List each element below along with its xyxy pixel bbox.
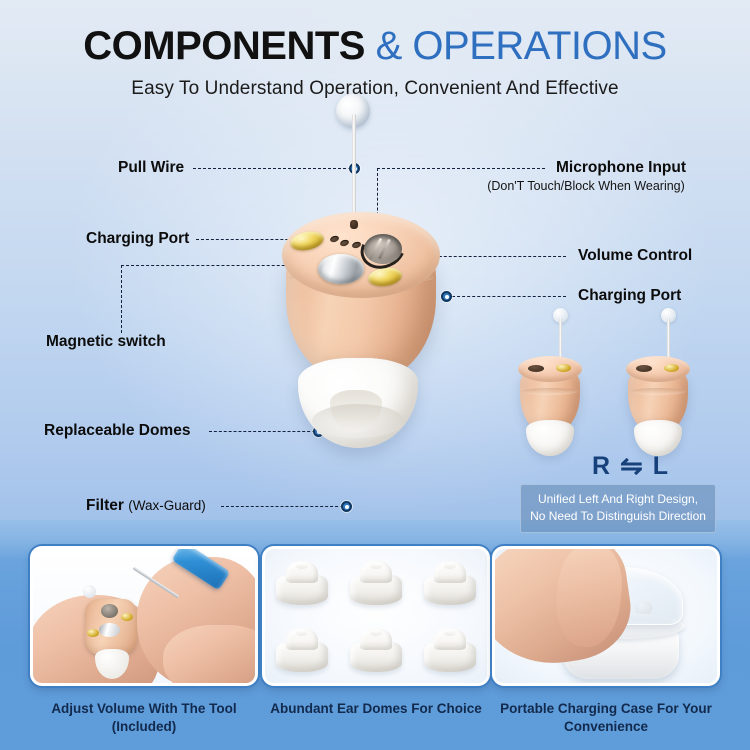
pull-wire-anchor (350, 220, 358, 229)
callout-label-volume-control: Volume Control (578, 247, 692, 265)
title-secondary: & OPERATIONS (376, 24, 667, 68)
callout-label-magnetic-switch: Magnetic switch (46, 333, 166, 351)
charging-contact-left (87, 629, 99, 637)
mini-device-top-face (626, 356, 690, 382)
leader-line-filter (221, 506, 343, 507)
volume-control-dial (101, 604, 118, 618)
ear-dome-item (274, 628, 330, 672)
callout-text-charging-port-right: Charging Port (578, 287, 681, 304)
hearing-aid-closeup (85, 599, 137, 655)
charging-contact-right (121, 613, 133, 621)
callout-label-charging-port-left: Charging Port (86, 230, 189, 248)
callout-label-microphone-input: Microphone Input (Don'T Touch/Block When… (556, 159, 686, 193)
title-primary: COMPONENTS (83, 24, 365, 68)
mini-dome (526, 420, 574, 456)
leader-line-magnetic-switch-v (121, 265, 122, 333)
mini-pull-wire-icon (559, 318, 562, 362)
leader-dot-filter (341, 501, 352, 512)
pull-wire-ball-icon (83, 585, 96, 598)
left-ear-letter: L (653, 452, 668, 481)
infographic-canvas: COMPONENTS & OPERATIONS Easy To Understa… (0, 0, 750, 750)
page-title: COMPONENTS & OPERATIONS (0, 0, 750, 66)
callout-text-microphone-input: Microphone Input (556, 159, 686, 176)
mini-hearing-aid-left (620, 340, 696, 458)
ear-dome-item (348, 561, 404, 605)
callout-label-pull-wire: Pull Wire (118, 159, 184, 177)
mini-hearing-aid-right (512, 340, 588, 458)
volume-control-dial (364, 234, 402, 264)
magnetic-switch-icon (318, 254, 364, 284)
right-ear-letter: R (592, 452, 610, 481)
feature-card-ear-domes[interactable] (262, 546, 490, 686)
header: COMPONENTS & OPERATIONS Easy To Understa… (0, 0, 750, 100)
ear-dome-item (274, 561, 330, 605)
magnetic-switch-icon (99, 623, 120, 637)
callout-label-replaceable-domes: Replaceable Domes (44, 422, 190, 440)
feature-caption-ear-domes: Abundant Ear Domes For Choice (262, 700, 490, 718)
callout-text-magnetic-switch: Magnetic switch (46, 333, 166, 350)
callout-text-charging-port-left: Charging Port (86, 230, 189, 247)
callout-note-microphone-input: (Don'T Touch/Block When Wearing) (486, 179, 686, 193)
page-subtitle: Easy To Understand Operation, Convenient… (0, 66, 750, 100)
unified-design-note-line1: Unified Left And Right Design, (525, 491, 711, 508)
dome-lip (312, 404, 404, 438)
ear-domes-grid (265, 549, 487, 683)
callout-note-filter: (Wax-Guard) (128, 498, 206, 513)
feature-card-adjust-volume[interactable] (30, 546, 258, 686)
callout-label-filter: Filter (Wax-Guard) (86, 497, 206, 515)
hand-fingers-lower (163, 625, 258, 686)
feature-caption-charging-case: Portable Charging Case For Your Convenie… (492, 700, 720, 736)
swap-arrows-icon: ⇋ (620, 453, 643, 480)
callout-text-replaceable-domes: Replaceable Domes (44, 422, 190, 439)
leader-line-microphone-h (377, 168, 545, 169)
unified-design-note: Unified Left And Right Design, No Need T… (520, 484, 716, 533)
mini-pull-wire-icon (667, 318, 670, 362)
unified-design-note-line2: No Need To Distinguish Direction (525, 508, 711, 525)
ear-dome-item (422, 561, 478, 605)
mini-device-top-face (518, 356, 582, 382)
ear-dome-item (348, 628, 404, 672)
pull-wire-icon (352, 114, 356, 224)
hearing-aid-main-illustration (268, 190, 448, 440)
callout-label-charging-port-right: Charging Port (578, 287, 681, 305)
mini-device-seam (630, 388, 686, 395)
leader-line-pull-wire (193, 168, 351, 169)
mini-device-seam (522, 388, 578, 395)
left-right-indicator: R ⇋ L (560, 452, 700, 481)
feature-card-charging-case[interactable] (492, 546, 720, 686)
callout-text-filter: Filter (86, 497, 124, 514)
leader-line-charging-port-right (447, 296, 566, 297)
callout-text-volume-control: Volume Control (578, 247, 692, 264)
callout-text-pull-wire: Pull Wire (118, 159, 184, 176)
feature-caption-adjust-volume: Adjust Volume With The Tool (Included) (30, 700, 258, 736)
ear-dome-item (422, 628, 478, 672)
